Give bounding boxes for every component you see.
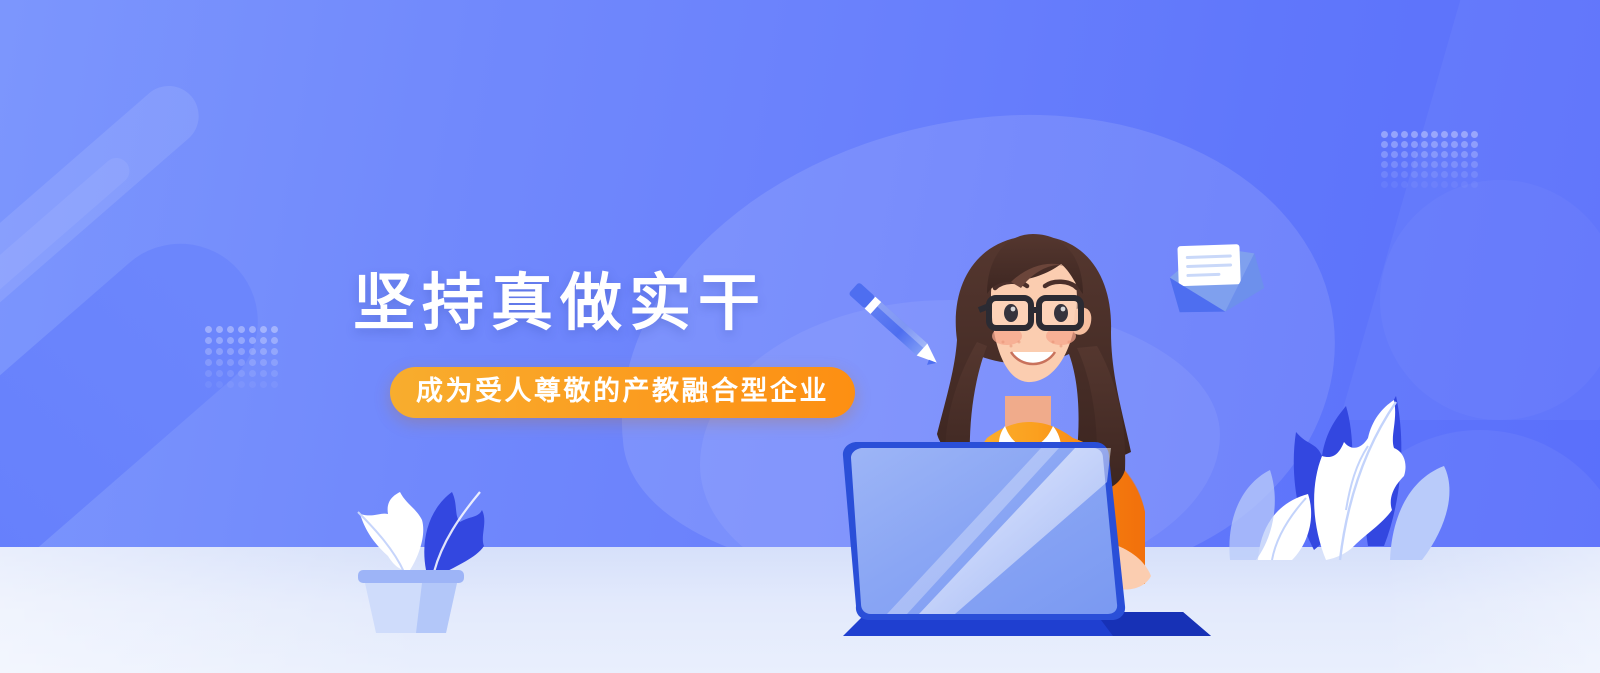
dot: [1421, 181, 1428, 188]
dot: [1381, 151, 1388, 158]
dot-grid-row: [1381, 161, 1481, 168]
dot: [1391, 181, 1398, 188]
dot-grid-right: [1381, 131, 1481, 191]
dot: [1411, 171, 1418, 178]
dot: [271, 326, 278, 333]
dot: [1391, 141, 1398, 148]
dot: [216, 326, 223, 333]
dot: [1441, 181, 1448, 188]
dot: [238, 359, 245, 366]
dot-grid-row: [205, 370, 282, 377]
potted-plant: [330, 430, 530, 640]
dot: [260, 359, 267, 366]
dot: [1421, 151, 1428, 158]
dot: [1381, 181, 1388, 188]
floor-highlight-right: [1380, 547, 1600, 673]
dot: [249, 348, 256, 355]
dot: [1381, 141, 1388, 148]
dot: [227, 337, 234, 344]
dot: [1461, 141, 1468, 148]
envelope-letter: [1177, 244, 1240, 286]
dot: [227, 370, 234, 377]
dot: [1471, 151, 1478, 158]
dot: [249, 337, 256, 344]
dot-grid-row: [205, 359, 282, 366]
dot: [1431, 131, 1438, 138]
dot: [216, 337, 223, 344]
dot: [216, 348, 223, 355]
dot: [1461, 161, 1468, 168]
dot: [216, 370, 223, 377]
dot: [1431, 141, 1438, 148]
dot: [238, 370, 245, 377]
dot: [260, 326, 267, 333]
dot: [271, 337, 278, 344]
dot: [271, 370, 278, 377]
dot: [1411, 161, 1418, 168]
dot: [249, 326, 256, 333]
dot: [1431, 161, 1438, 168]
leaf-cluster: [1230, 320, 1490, 560]
dot: [1411, 151, 1418, 158]
dot: [1421, 161, 1428, 168]
dot: [1411, 141, 1418, 148]
eye-right: [1054, 304, 1068, 322]
dot: [1471, 141, 1478, 148]
dot: [1381, 161, 1388, 168]
dot-grid-row: [205, 326, 282, 333]
dot: [249, 370, 256, 377]
dot: [205, 381, 212, 388]
dot: [1461, 131, 1468, 138]
dot: [238, 381, 245, 388]
dot: [1431, 181, 1438, 188]
dot: [1401, 131, 1408, 138]
dot: [238, 348, 245, 355]
dot: [1391, 151, 1398, 158]
hero-banner: 坚持真做实干 成为受人尊敬的产教融合型企业: [0, 0, 1600, 673]
dot-grid-row: [205, 337, 282, 344]
dot-grid-row: [1381, 131, 1481, 138]
dot-grid-row: [1381, 181, 1481, 188]
dot: [1381, 171, 1388, 178]
dot: [205, 348, 212, 355]
dot: [1391, 131, 1398, 138]
plant-leaf-blue: [424, 492, 484, 574]
dot: [227, 348, 234, 355]
dot: [249, 381, 256, 388]
dot: [238, 337, 245, 344]
dot: [249, 359, 256, 366]
dot: [1451, 151, 1458, 158]
dot: [238, 326, 245, 333]
dot: [205, 370, 212, 377]
dot: [205, 326, 212, 333]
dot: [1441, 131, 1448, 138]
dot-grid-row: [1381, 141, 1481, 148]
dot: [1421, 171, 1428, 178]
dot: [1461, 181, 1468, 188]
dot: [227, 381, 234, 388]
dot: [1451, 161, 1458, 168]
dot-grid-row: [1381, 151, 1481, 158]
dot: [1471, 131, 1478, 138]
dot: [1411, 131, 1418, 138]
dot: [260, 381, 267, 388]
dot: [260, 337, 267, 344]
dot: [1471, 181, 1478, 188]
dot: [1451, 171, 1458, 178]
dot: [1441, 161, 1448, 168]
dot: [1461, 171, 1468, 178]
dot-grid-row: [1381, 171, 1481, 178]
dot: [271, 359, 278, 366]
dot: [1401, 181, 1408, 188]
dot: [260, 370, 267, 377]
dot: [1421, 131, 1428, 138]
dot: [216, 359, 223, 366]
dot: [1441, 171, 1448, 178]
dot: [1391, 171, 1398, 178]
page-title: 坚持真做实干: [340, 272, 880, 335]
dot-grid-row: [205, 381, 282, 388]
dot: [1451, 181, 1458, 188]
dot: [1461, 151, 1468, 158]
dot: [205, 359, 212, 366]
leaf-white-main: [1314, 400, 1405, 560]
dot-grid-left: [205, 326, 282, 392]
dot: [1451, 131, 1458, 138]
dot: [1401, 161, 1408, 168]
dot: [1431, 151, 1438, 158]
dot: [1441, 151, 1448, 158]
plant-pot-rim: [358, 570, 464, 583]
dot: [271, 381, 278, 388]
dot: [1381, 131, 1388, 138]
person-at-laptop: [845, 190, 1265, 650]
dot-grid-row: [205, 348, 282, 355]
hero-text-block: 坚持真做实干 成为受人尊敬的产教融合型企业: [340, 272, 880, 418]
dot: [216, 381, 223, 388]
dot: [1421, 141, 1428, 148]
dot: [271, 348, 278, 355]
eye-left: [1004, 304, 1018, 322]
dot: [227, 326, 234, 333]
dot: [260, 348, 267, 355]
dot: [1471, 171, 1478, 178]
plant-leaf-white: [360, 492, 423, 570]
subtitle-text: 成为受人尊敬的产教融合型企业: [416, 376, 829, 406]
dot: [1441, 141, 1448, 148]
dot: [205, 337, 212, 344]
dot: [227, 359, 234, 366]
envelope-icon: [1162, 226, 1268, 323]
dot: [1401, 171, 1408, 178]
dot: [1451, 141, 1458, 148]
dot: [1401, 141, 1408, 148]
dot: [1431, 171, 1438, 178]
dot: [1411, 181, 1418, 188]
dot: [1471, 161, 1478, 168]
subtitle-badge: 成为受人尊敬的产教融合型企业: [390, 367, 855, 418]
plant-pot-shadow: [416, 583, 457, 633]
dot: [1391, 161, 1398, 168]
dot: [1401, 151, 1408, 158]
